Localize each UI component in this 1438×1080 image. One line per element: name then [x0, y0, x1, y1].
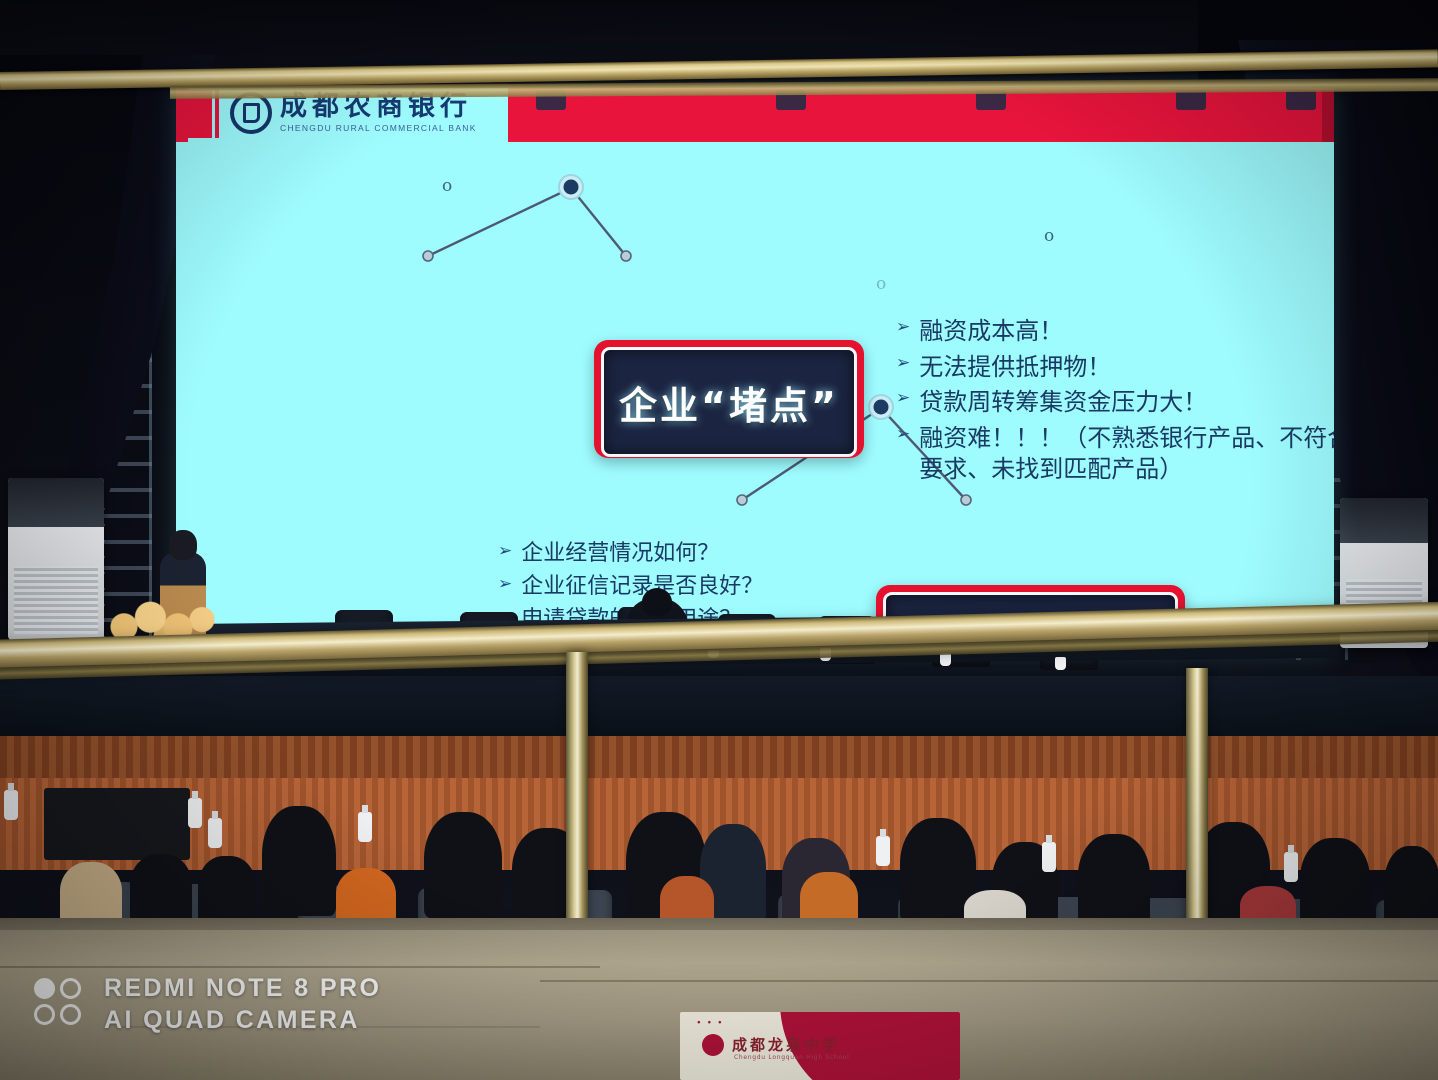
side-door — [44, 788, 190, 860]
list-item: ➢ 融资成本高！ — [896, 316, 1334, 347]
arrow-bullet-icon: ➢ — [896, 316, 910, 338]
water-bottle — [208, 818, 222, 848]
audience-member — [130, 854, 192, 924]
brand-name-en: CHENGDU RURAL COMMERCIAL BANK — [280, 123, 477, 133]
watermark-device-model: REDMI NOTE 8 PRO — [104, 972, 381, 1004]
audience-member — [262, 806, 336, 916]
stage-front-fascia — [0, 676, 1438, 738]
watermark-camera-label: AI QUAD CAMERA — [104, 1004, 381, 1036]
water-bottle — [876, 836, 890, 866]
air-conditioner-left — [8, 478, 104, 640]
plaque-enterprise-pain-points: 企业“堵点” — [594, 340, 864, 458]
bullet-text: 贷款周转筹集资金压力大！ — [919, 387, 1207, 418]
audience-member — [198, 856, 256, 924]
audience-member — [1078, 834, 1150, 928]
water-bottle — [188, 798, 202, 828]
led-presentation-screen: 成都农商银行 CHENGDU RURAL COMMERCIAL BANK o o… — [176, 88, 1334, 655]
arrow-bullet-icon: ➢ — [896, 387, 910, 409]
water-bottle — [1284, 852, 1298, 882]
arrow-bullet-icon: ➢ — [896, 423, 910, 445]
arrow-bullet-icon: ➢ — [498, 540, 512, 562]
audience-member — [1300, 838, 1370, 930]
school-emblem-icon — [702, 1034, 724, 1056]
doodle-mark-2: o — [1044, 226, 1054, 246]
camera-watermark: REDMI NOTE 8 PRO AI QUAD CAMERA — [34, 972, 381, 1036]
arrow-bullet-icon: ➢ — [896, 352, 910, 374]
bullet-text: 融资成本高！ — [919, 316, 1063, 347]
water-bottle — [4, 790, 18, 820]
plaque-enterprise-label: 企业“堵点” — [619, 375, 839, 430]
list-item: ➢ 企业经营情况如何？ — [498, 540, 828, 568]
doodle-mark-3: o — [876, 274, 886, 294]
school-name-sign: ∙ ∙ ∙ 成都龙泉中学 Chengdu Longquan High Schoo… — [680, 1012, 960, 1080]
bullet-text: 无法提供抵押物！ — [919, 352, 1111, 383]
arrow-bullet-icon: ➢ — [498, 573, 512, 595]
list-item: ➢ 贷款周转筹集资金压力大！ — [896, 387, 1334, 418]
bullet-text: 融资难！！！（不熟悉银行产品、不符合准入 — [919, 423, 1334, 454]
quad-camera-icon — [34, 978, 90, 1030]
audience-member — [424, 812, 502, 918]
school-name-en: Chengdu Longquan High School — [734, 1054, 850, 1061]
water-bottle — [358, 812, 372, 842]
enterprise-points-list: ➢ 融资成本高！ ➢ 无法提供抵押物！ ➢ 贷款周转筹集资金压力大！ ➢ 融资难… — [896, 316, 1334, 490]
bullet-text-continued: 要求、未找到匹配产品） — [919, 454, 1334, 485]
school-name-cn: 成都龙泉中学 — [732, 1034, 840, 1055]
doodle-mark-1: o — [442, 176, 452, 196]
bullet-text: 企业经营情况如何？ — [521, 540, 719, 568]
water-cup — [1055, 657, 1066, 670]
photograph: 成都农商银行 CHENGDU RURAL COMMERCIAL BANK o o… — [0, 0, 1438, 1080]
water-cup — [940, 653, 951, 666]
list-item: ➢ 融资难！！！（不熟悉银行产品、不符合准入 要求、未找到匹配产品） — [896, 423, 1334, 484]
water-bottle — [1042, 842, 1056, 872]
list-item: ➢ 无法提供抵押物！ — [896, 352, 1334, 383]
